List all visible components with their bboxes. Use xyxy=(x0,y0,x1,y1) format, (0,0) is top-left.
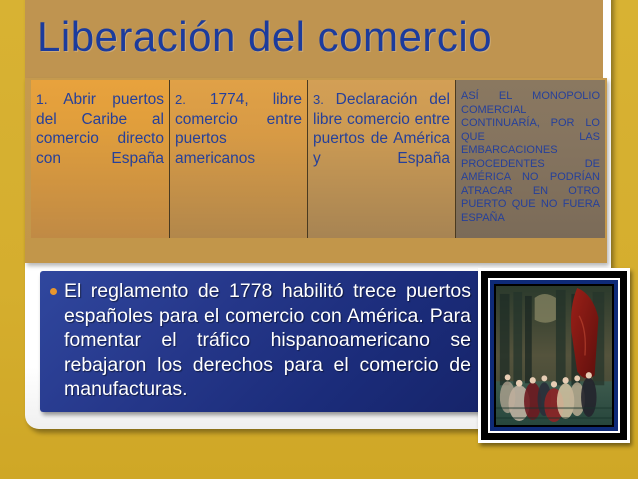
table-cell-2: 2. 1774, libre comercio entre puertos am… xyxy=(170,80,308,238)
table-cell-2-body: 1774, libre comercio entre puertos ameri… xyxy=(175,91,302,167)
table-cell-3-number: 3. xyxy=(313,92,324,107)
picture-frame-outer xyxy=(481,271,627,440)
table-cell-2-text: 2. 1774, libre comercio entre puertos am… xyxy=(175,90,302,188)
table-cell-1: 1. Abrir puertos del Caribe al comercio … xyxy=(31,80,170,238)
picture-frame-inner xyxy=(490,280,618,431)
table-cell-1-number: 1. xyxy=(36,91,48,107)
painting-image xyxy=(496,286,612,425)
bullet-point-icon xyxy=(50,288,57,295)
picture-frame-mat xyxy=(488,278,620,433)
table-cell-2-number: 2. xyxy=(175,92,186,107)
title-bar: Liberación del comercio xyxy=(25,0,603,78)
table-cell-3-body: Declaración del libre comercio entre pue… xyxy=(313,91,450,167)
slide: Liberación del comercio 1. Abrir puertos… xyxy=(0,0,638,479)
table-cell-3-text: 3. Declaración del libre comercio entre … xyxy=(313,90,450,188)
picture-frame-liner xyxy=(494,284,614,427)
callout-row: El reglamento de 1778 habilitó trece pue… xyxy=(40,271,481,406)
callout-text: El reglamento de 1778 habilitó trece pue… xyxy=(64,279,471,402)
table-cell-4-text: ASÍ EL MONOPOLIO COMERCIAL CONTINUARÍA, … xyxy=(461,90,600,238)
comparison-table: 1. Abrir puertos del Caribe al comercio … xyxy=(31,80,606,238)
table-cell-3: 3. Declaración del libre comercio entre … xyxy=(308,80,456,238)
table-cell-1-text: 1. Abrir puertos del Caribe al comercio … xyxy=(36,90,164,188)
table-cell-1-body: Abrir puertos del Caribe al comercio dir… xyxy=(36,91,164,167)
page-title: Liberación del comercio xyxy=(37,4,597,70)
picture-frame xyxy=(478,268,630,443)
callout-box: El reglamento de 1778 habilitó trece pue… xyxy=(40,271,481,412)
table-cell-4: ASÍ EL MONOPOLIO COMERCIAL CONTINUARÍA, … xyxy=(456,80,605,238)
